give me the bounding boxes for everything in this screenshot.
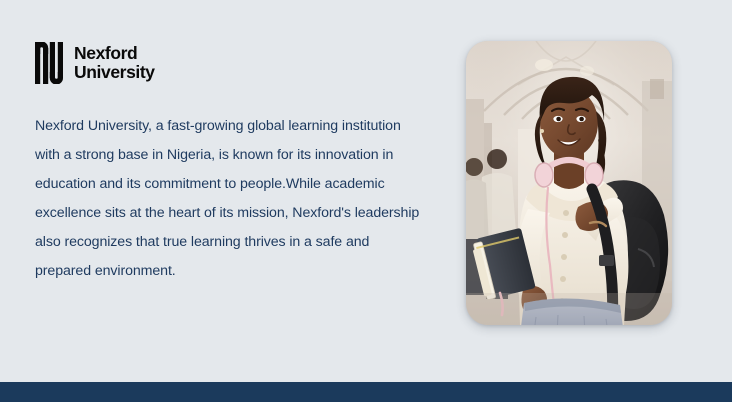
body-line: education and its commitment to people.W… <box>35 170 420 199</box>
body-line: prepared environment. <box>35 257 420 286</box>
nexford-university-logo: Nexford University <box>35 40 425 86</box>
body-line: also recognizes that true learning thriv… <box>35 228 420 257</box>
left-content-column: Nexford University <box>35 40 425 86</box>
slide-canvas: Nexford University Nexford University, a… <box>0 0 732 402</box>
body-paragraph: Nexford University, a fast-growing globa… <box>35 112 420 286</box>
nexford-nu-monogram-icon <box>35 42 63 84</box>
student-photo-frame <box>466 41 672 325</box>
body-line: Nexford University, a fast-growing globa… <box>35 112 420 141</box>
logo-wordmark: Nexford University <box>74 45 155 82</box>
bottom-accent-bar <box>0 382 732 402</box>
logo-wordmark-line-1: Nexford <box>74 45 155 63</box>
student-photo <box>466 41 672 325</box>
body-line-text: Nexford University, a fast-growing globa… <box>35 112 401 141</box>
logo-wordmark-line-2: University <box>74 64 155 82</box>
body-paragraph-text: Nexford University, a fast-growing globa… <box>35 112 420 286</box>
body-line: with a strong base in Nigeria, is known … <box>35 141 420 170</box>
student-photo-illustration <box>466 41 672 325</box>
body-line: excellence sits at the heart of its miss… <box>35 199 420 228</box>
